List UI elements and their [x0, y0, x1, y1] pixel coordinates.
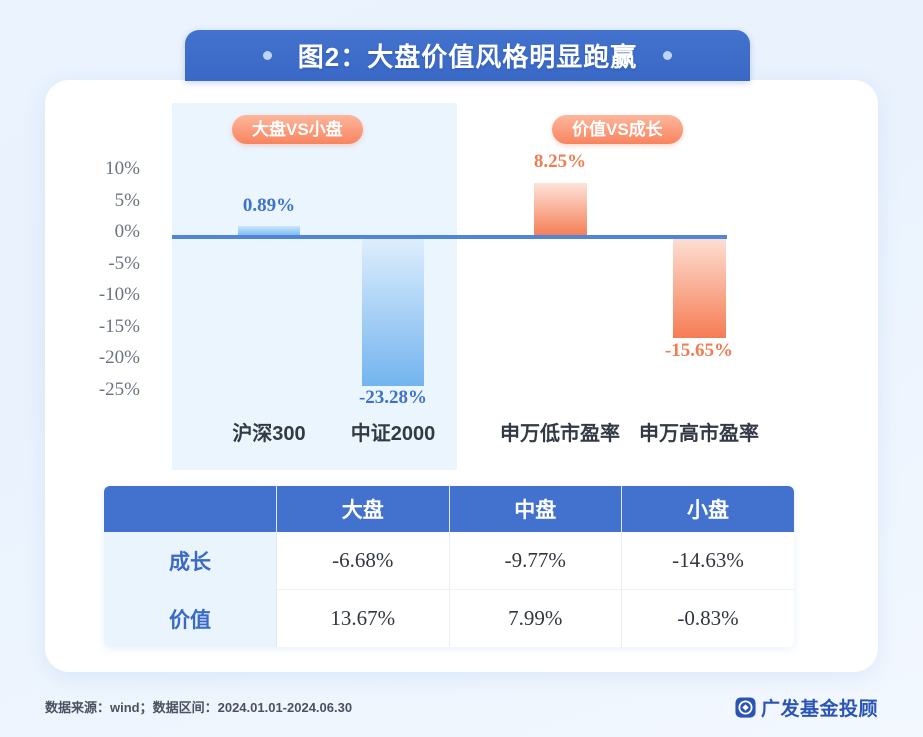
bar-chart: 10% 5% 0% -5% -10% -15% -20% -25% 大盘VS小盘… [45, 95, 878, 470]
table-header-corner [104, 486, 277, 532]
brand-logo: 广发基金投顾 [735, 694, 878, 721]
y-axis-tick: -5% [45, 248, 140, 280]
bar-hs300 [238, 226, 300, 235]
category-label-csi2000: 中证2000 [347, 417, 439, 446]
group-badge-large-vs-small: 大盘VS小盘 [232, 115, 363, 144]
table-cell: -9.77% [449, 532, 622, 590]
table-header-large-cap: 大盘 [277, 486, 450, 532]
bar-value-csi2000: -23.28% [347, 387, 439, 409]
table-cell: -14.63% [622, 532, 795, 590]
group-badge-value-vs-growth: 价值VS成长 [552, 115, 683, 144]
table-cell: 7.99% [449, 590, 622, 648]
bar-value-sw-high-pe: -15.65% [639, 340, 759, 362]
category-label-sw-high-pe: 申万高市盈率 [624, 417, 774, 446]
table-header-row: 大盘 中盘 小盘 [104, 486, 794, 532]
category-label-sw-low-pe: 申万低市盈率 [485, 417, 635, 446]
table-row-header-growth: 成长 [104, 532, 277, 590]
bar-sw-low-pe [534, 183, 587, 235]
table-cell: -0.83% [622, 590, 795, 648]
chart-title-banner: 图2：大盘价值风格明显跑赢 [185, 30, 750, 81]
footer: 数据来源：wind；数据区间：2024.01.01-2024.06.30 广发基… [45, 697, 923, 719]
y-axis-tick: -25% [45, 374, 140, 406]
table-cell: -6.68% [277, 532, 450, 590]
bar-csi2000 [362, 239, 424, 386]
y-axis-tick: -10% [45, 279, 140, 311]
y-axis-tick: 10% [45, 153, 140, 185]
y-axis: 10% 5% 0% -5% -10% -15% -20% -25% [45, 153, 140, 405]
banner-right-dot-icon [663, 51, 672, 60]
banner-left-dot-icon [263, 51, 272, 60]
table-header-small-cap: 小盘 [622, 486, 795, 532]
y-axis-tick: -20% [45, 342, 140, 374]
table-cell: 13.67% [277, 590, 450, 648]
style-matrix-table: 大盘 中盘 小盘 成长 -6.68% -9.77% -14.63% 价值 13.… [104, 486, 794, 647]
brand-name: 广发基金投顾 [761, 694, 878, 721]
data-source-note: 数据来源：wind；数据区间：2024.01.01-2024.06.30 [45, 697, 352, 719]
table-header-mid-cap: 中盘 [449, 486, 622, 532]
bar-sw-high-pe [673, 239, 726, 338]
table-row: 成长 -6.68% -9.77% -14.63% [104, 532, 794, 590]
page-title: 图2：大盘价值风格明显跑赢 [298, 37, 637, 74]
zero-baseline [172, 235, 727, 239]
brand-mark-icon [735, 697, 756, 718]
table-row-header-value: 价值 [104, 590, 277, 648]
bar-value-sw-low-pe: 8.25% [500, 151, 620, 173]
table-row: 价值 13.67% 7.99% -0.83% [104, 590, 794, 648]
y-axis-tick: 5% [45, 185, 140, 217]
y-axis-tick: 0% [45, 216, 140, 248]
y-axis-tick: -15% [45, 311, 140, 343]
bar-value-hs300: 0.89% [223, 195, 315, 217]
category-label-hs300: 沪深300 [223, 417, 315, 446]
